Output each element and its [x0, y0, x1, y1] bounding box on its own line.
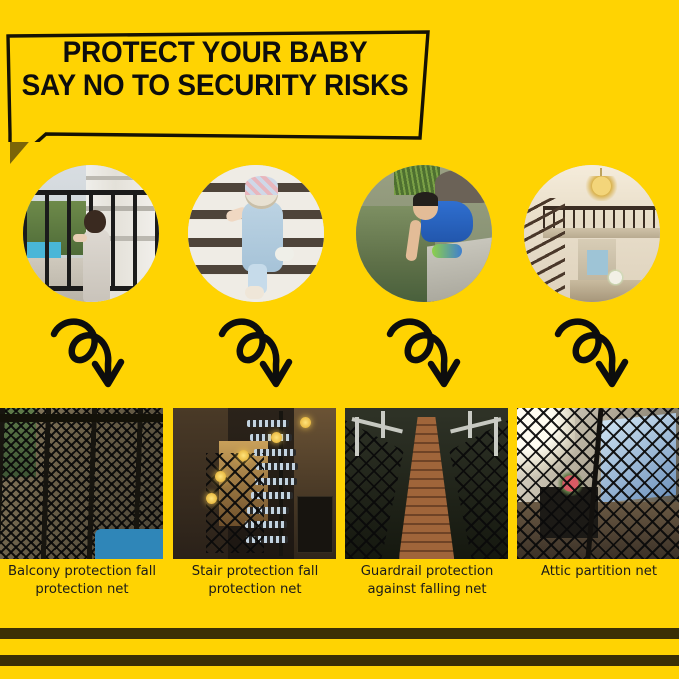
hazard-photo-boy-crouching-at-pond	[356, 165, 492, 302]
hazard-photo-child-at-balcony-railing	[23, 165, 159, 302]
curly-down-arrow-icon	[48, 312, 138, 394]
headline-line-1: PROTECT YOUR BABY	[15, 38, 415, 69]
product-photo-balcony-net	[0, 408, 163, 559]
hazard-photo-interior-loft-balcony	[524, 165, 660, 302]
caption-stair-net: Stair protection fall protection net	[175, 563, 335, 599]
product-photo-row	[0, 408, 679, 559]
arrow-row	[0, 312, 679, 394]
product-photo-guardrail-net	[345, 408, 508, 559]
banner-text-block: PROTECT YOUR BABY SAY NO TO SECURITY RIS…	[0, 38, 430, 101]
footer-stripe-bottom	[0, 655, 679, 666]
footer-stripe-top	[0, 628, 679, 639]
caption-row: Balcony protection fall protection net S…	[0, 563, 679, 609]
curly-down-arrow-icon	[384, 312, 474, 394]
headline-line-2: SAY NO TO SECURITY RISKS	[15, 71, 415, 102]
caption-balcony-net: Balcony protection fall protection net	[2, 563, 162, 599]
caption-attic-net: Attic partition net	[519, 563, 679, 581]
caption-guardrail-net: Guardrail protection against falling net	[347, 563, 507, 599]
hazard-photo-row	[0, 160, 679, 308]
product-photo-stair-net	[173, 408, 336, 559]
product-photo-attic-net	[517, 408, 679, 559]
curly-down-arrow-icon	[552, 312, 642, 394]
curly-down-arrow-icon	[216, 312, 306, 394]
hazard-photo-toddler-climbing-stairs	[188, 165, 324, 302]
headline-banner: PROTECT YOUR BABY SAY NO TO SECURITY RIS…	[0, 30, 440, 142]
